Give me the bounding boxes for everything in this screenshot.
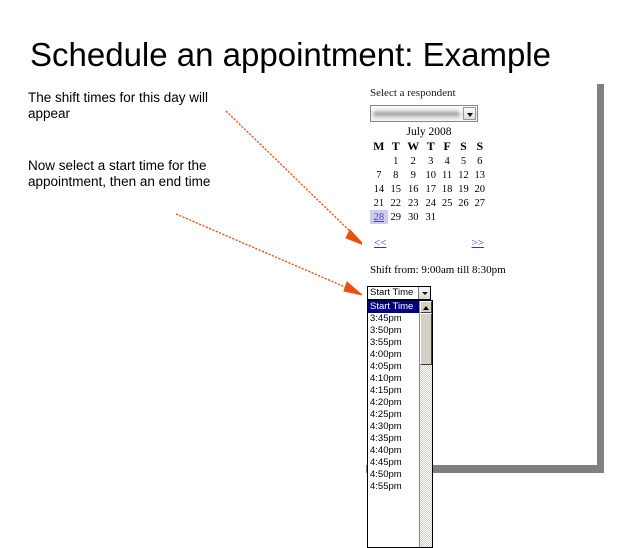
start-time-select[interactable]: Start Time [367,286,431,300]
calendar-day[interactable]: 18 [439,182,455,196]
calendar-day[interactable]: 20 [472,182,488,196]
start-time-option[interactable]: 4:05pm [368,361,420,373]
calendar-weekday-thu: T [423,139,439,154]
calendar-day-label: 28 [374,212,385,223]
callout-text-shift-times: The shift times for this day will appear [28,90,243,122]
calendar-week-row: 28293031 [370,210,488,224]
calendar-day[interactable]: 29 [388,210,404,224]
calendar-day[interactable]: 26 [455,196,471,210]
calendar-day-empty [472,210,488,224]
calendar-day[interactable]: 16 [404,182,423,196]
calendar-day[interactable]: 14 [370,182,388,196]
start-time-option[interactable]: 3:45pm [368,313,420,325]
calendar-day[interactable]: 23 [404,196,423,210]
start-time-option[interactable]: 4:40pm [368,445,420,457]
scroll-up-arrow-icon[interactable] [420,301,432,313]
calendar-day[interactable]: 6 [472,154,488,168]
calendar-day[interactable]: 8 [388,168,404,182]
start-time-option[interactable]: 4:25pm [368,409,420,421]
calendar-day[interactable]: 10 [423,168,439,182]
calendar-week-row: 14151617181920 [370,182,488,196]
calendar-day[interactable]: 30 [404,210,423,224]
shift-hours-text: Shift from: 9:00am till 8:30pm [370,264,506,276]
calendar-day[interactable]: 24 [423,196,439,210]
start-time-option[interactable]: 3:55pm [368,337,420,349]
start-time-option[interactable]: 4:45pm [368,457,420,469]
calendar-weekday-sun: S [472,139,488,154]
calendar-day-empty [370,154,388,168]
start-time-option[interactable]: 4:30pm [368,421,420,433]
calendar-weekday-mon: M [370,139,388,154]
scrollbar-thumb[interactable] [420,313,432,365]
panel-drop-shadow-right [597,84,604,473]
calendar-day[interactable]: 19 [455,182,471,196]
start-time-option[interactable]: 4:15pm [368,385,420,397]
calendar-day[interactable]: 1 [388,154,404,168]
start-time-option-list: Start Time3:45pm3:50pm3:55pm4:00pm4:05pm… [368,301,420,493]
chevron-down-icon[interactable] [418,287,430,299]
start-time-option[interactable]: 4:50pm [368,469,420,481]
start-time-option[interactable]: Start Time [368,301,420,313]
calendar-weekday-fri: F [439,139,455,154]
calendar-day[interactable]: 15 [388,182,404,196]
arrow-2-head [344,282,362,295]
calendar-day[interactable]: 13 [472,168,488,182]
start-time-option[interactable]: 4:10pm [368,373,420,385]
arrow-1-line [226,111,357,238]
listbox-scrollbar[interactable] [419,301,432,547]
calendar-day[interactable]: 11 [439,168,455,182]
calendar-header-row: M T W T F S S [370,139,488,154]
start-time-options-listbox[interactable]: Start Time3:45pm3:50pm3:55pm4:00pm4:05pm… [367,300,433,548]
respondent-select[interactable] [370,105,478,122]
calendar-day[interactable]: 9 [404,168,423,182]
calendar-day[interactable]: 21 [370,196,388,210]
calendar-day[interactable]: 17 [423,182,439,196]
calendar-day[interactable]: 4 [439,154,455,168]
calendar-day-empty [439,210,455,224]
arrow-2-line [176,214,352,290]
calendar-widget: July 2008 M T W T F S S 1234567891011121… [370,126,488,224]
calendar-next-month-link[interactable]: >> [472,237,484,249]
start-time-option[interactable]: 4:20pm [368,397,420,409]
start-time-option[interactable]: 4:00pm [368,349,420,361]
calendar-weekday-tue: T [388,139,404,154]
calendar-grid: M T W T F S S 12345678910111213141516171… [370,139,488,224]
calendar-day[interactable]: 3 [423,154,439,168]
respondent-selected-value-redacted [374,109,459,119]
calendar-body: 1234567891011121314151617181920212223242… [370,154,488,224]
page-title: Schedule an appointment: Example [30,36,616,74]
calendar-weekday-wed: W [404,139,423,154]
start-time-option[interactable]: 3:50pm [368,325,420,337]
calendar-day[interactable]: 25 [439,196,455,210]
calendar-week-row: 21222324252627 [370,196,488,210]
respondent-label: Select a respondent [370,87,456,99]
calendar-prev-month-link[interactable]: << [374,237,386,249]
calendar-day[interactable]: 12 [455,168,471,182]
calendar-week-row: 123456 [370,154,488,168]
start-time-option[interactable]: 4:35pm [368,433,420,445]
calendar-day-selected[interactable]: 28 [370,210,388,224]
calendar-day[interactable]: 27 [472,196,488,210]
calendar-day[interactable]: 22 [388,196,404,210]
chevron-down-icon[interactable] [463,107,476,120]
scrollbar-track[interactable] [420,365,432,547]
calendar-day[interactable]: 7 [370,168,388,182]
embedded-app-screenshot: Select a respondent July 2008 M T W T F … [362,84,595,465]
start-time-selected-value: Start Time [370,287,413,299]
calendar-day[interactable]: 31 [423,210,439,224]
calendar-navigation: << >> [370,237,488,251]
start-time-option[interactable]: 4:55pm [368,481,420,493]
calendar-day[interactable]: 5 [455,154,471,168]
calendar-day-empty [455,210,471,224]
callout-text-select-start-time: Now select a start time for the appointm… [28,158,243,190]
calendar-weekday-sat: S [455,139,471,154]
calendar-day[interactable]: 2 [404,154,423,168]
calendar-month-label: July 2008 [370,126,488,139]
calendar-week-row: 78910111213 [370,168,488,182]
